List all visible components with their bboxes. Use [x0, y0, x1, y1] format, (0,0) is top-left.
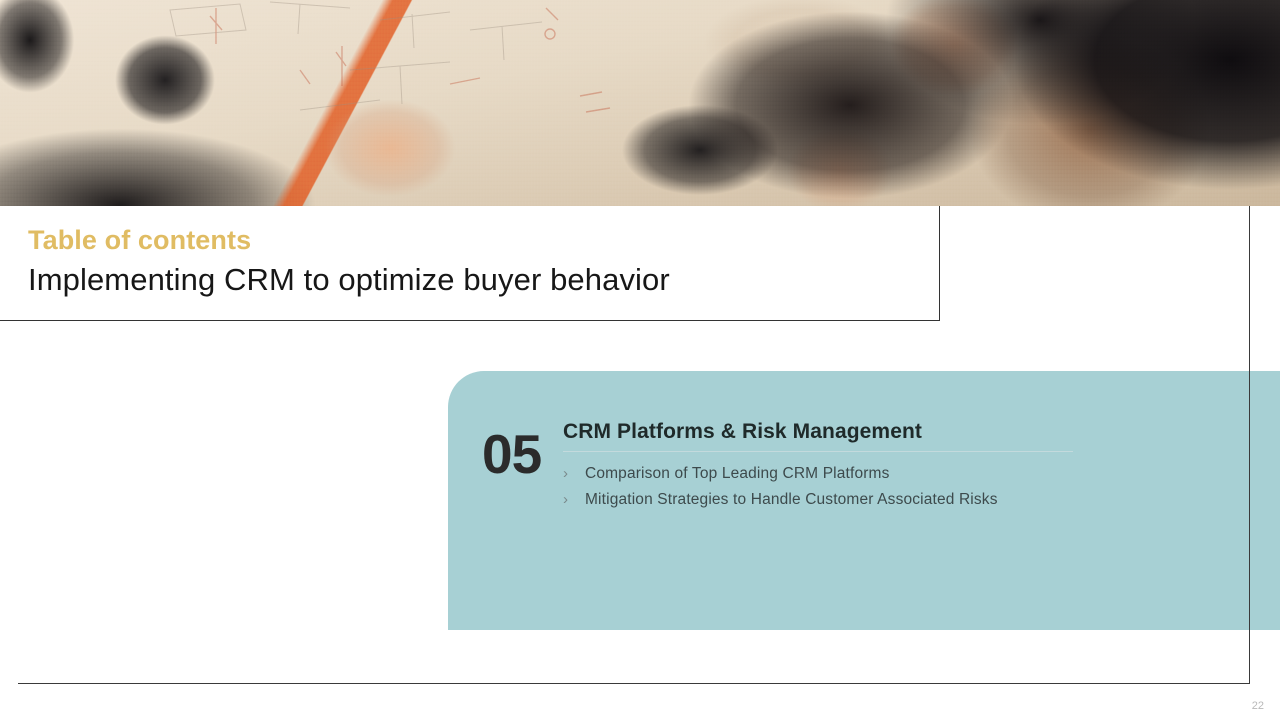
photo-grain-overlay [0, 0, 1280, 206]
list-item-label: Comparison of Top Leading CRM Platforms [585, 461, 1083, 487]
chevron-right-icon: › [563, 461, 585, 486]
section-body: CRM Platforms & Risk Management › Compar… [563, 419, 1083, 513]
page-number: 22 [1252, 700, 1264, 712]
list-item-label: Mitigation Strategies to Handle Customer… [585, 487, 1083, 513]
list-item[interactable]: › Comparison of Top Leading CRM Platform… [563, 461, 1083, 487]
title-card: Table of contents Implementing CRM to op… [0, 206, 940, 321]
hero-image [0, 0, 1280, 206]
page-title: Implementing CRM to optimize buyer behav… [28, 262, 670, 298]
frame-horizontal-line [18, 683, 1250, 684]
section-bullet-list: › Comparison of Top Leading CRM Platform… [563, 461, 1083, 513]
section-card-inner: 05 CRM Platforms & Risk Management › Com… [448, 371, 1280, 630]
list-item[interactable]: › Mitigation Strategies to Handle Custom… [563, 487, 1083, 513]
section-number: 05 [482, 427, 541, 482]
frame-vertical-line [1249, 206, 1250, 684]
chevron-right-icon: › [563, 487, 585, 512]
table-of-contents-kicker: Table of contents [28, 225, 251, 256]
section-card: 05 CRM Platforms & Risk Management › Com… [448, 371, 1280, 630]
section-heading: CRM Platforms & Risk Management [563, 419, 1083, 445]
section-divider [563, 451, 1073, 452]
